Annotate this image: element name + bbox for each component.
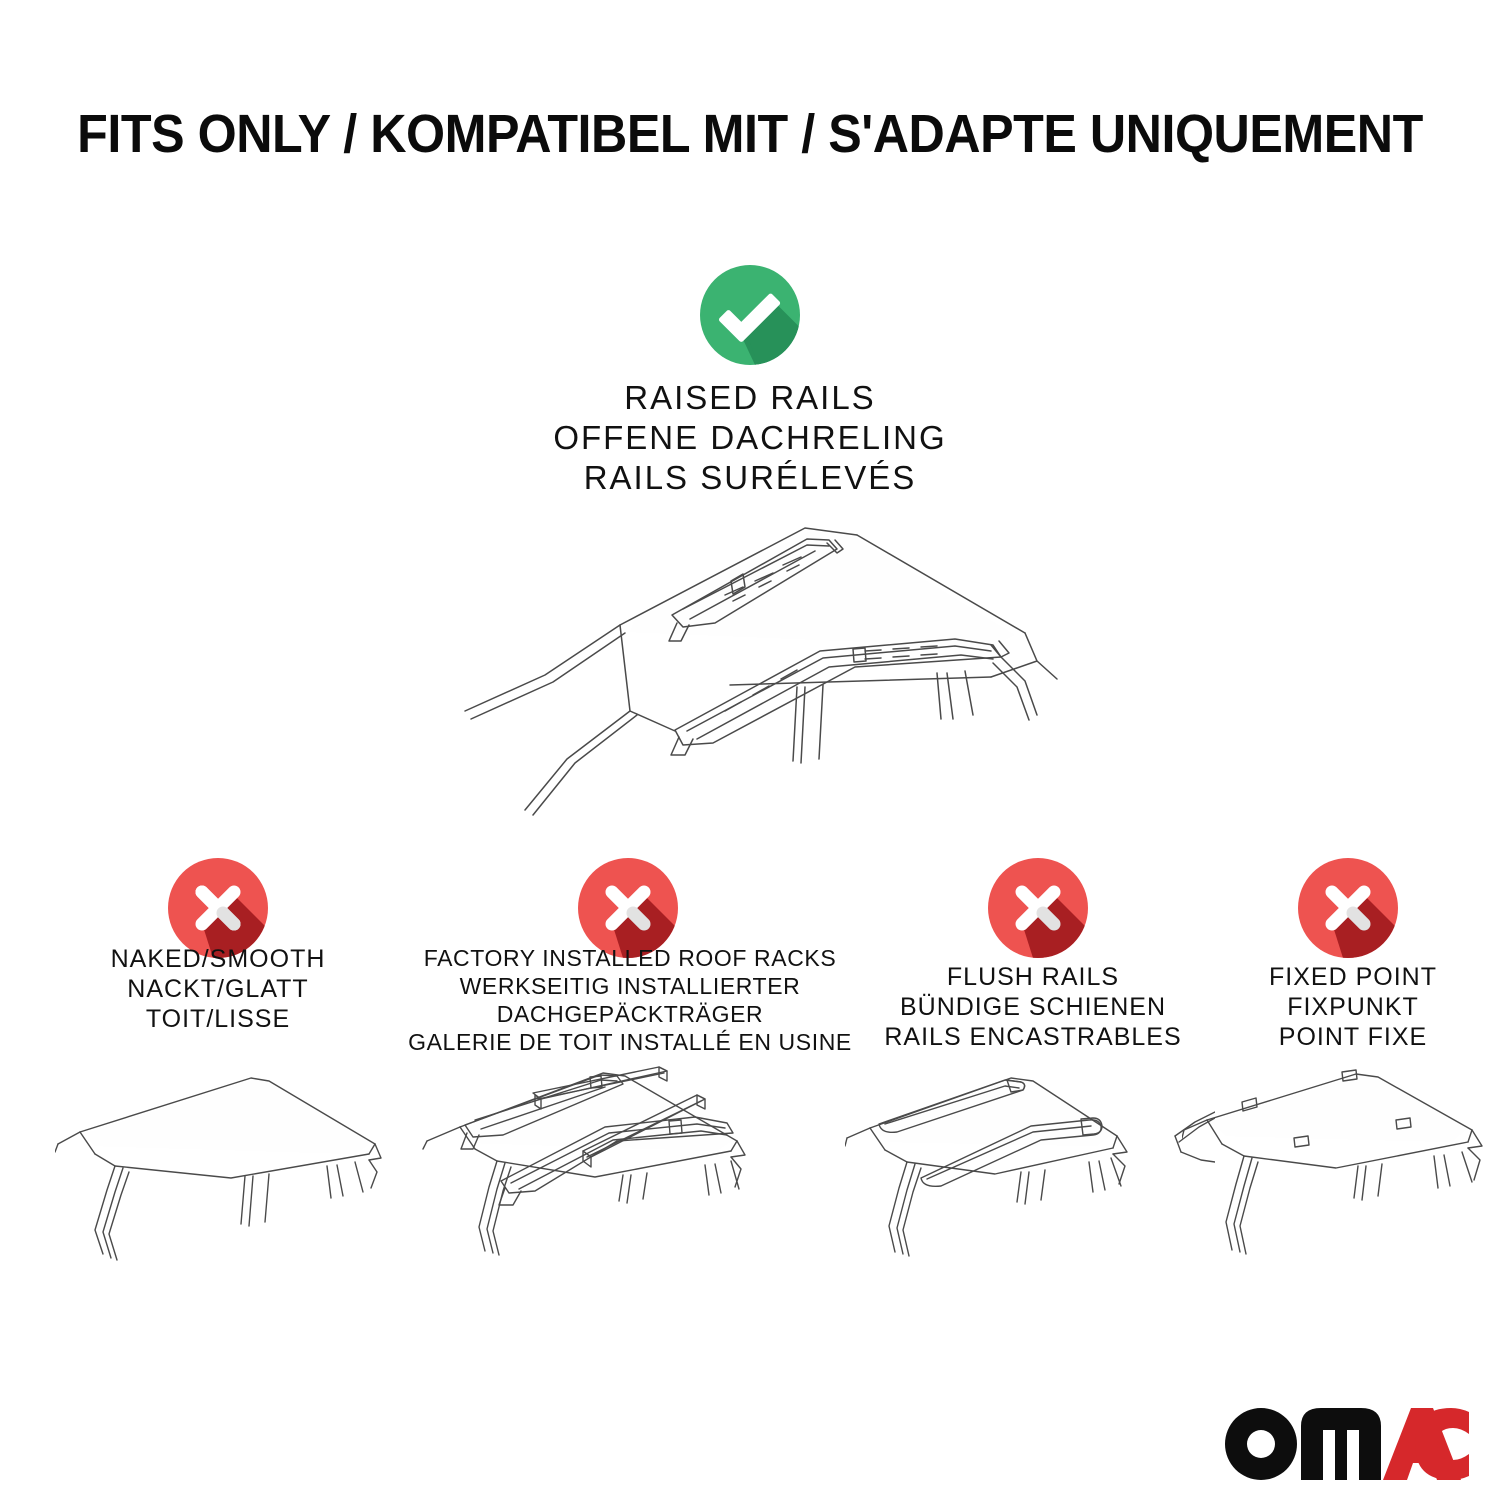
incompatible-label-line-2: BÜNDIGE SCHIENEN [868,992,1198,1022]
incompatible-label-line-3: TOIT/LISSE [18,1004,418,1034]
car-roof-factory-roof-racks-illustration [405,1055,785,1295]
check-circle-icon [700,265,800,365]
compatible-label-line-3: RAILS SURÉLEVÉS [450,458,1050,498]
car-roof-flush-rails-illustration [845,1062,1215,1292]
x-circle-icon [988,858,1088,958]
car-roof-fixed-point-illustration [1182,1062,1500,1292]
compatible-label: RAISED RAILS OFFENE DACHRELING RAILS SUR… [450,378,1050,498]
incompatible-label-naked-smooth: NAKED/SMOOTH NACKT/GLATT TOIT/LISSE [18,944,418,1034]
incompatible-label-line-2: NACKT/GLATT [18,974,418,1004]
incompatible-label-line-2: WERKSEITIG INSTALLIERTER [400,972,860,1000]
incompatible-label-flush-rails: FLUSH RAILS BÜNDIGE SCHIENEN RAILS ENCAS… [868,962,1198,1052]
incompatible-label-line-3: RAILS ENCASTRABLES [868,1022,1198,1052]
page-title: FITS ONLY / KOMPATIBEL MIT / S'ADAPTE UN… [53,104,1448,164]
incompatible-label-line-1: FIXED POINT [1218,962,1488,992]
car-roof-naked-smooth-illustration [55,1062,415,1292]
incompatible-label-fixed-point: FIXED POINT FIXPUNKT POINT FIXE [1218,962,1488,1052]
x-circle-icon [1298,858,1398,958]
compatible-label-line-1: RAISED RAILS [450,378,1050,418]
incompatible-label-line-1: FLUSH RAILS [868,962,1198,992]
x-circle-icon [168,858,268,958]
compatible-label-line-2: OFFENE DACHRELING [450,418,1050,458]
incompatible-label-line-4: GALERIE DE TOIT INSTALLÉ EN USINE [400,1028,860,1056]
incompatible-label-factory-roof-racks: FACTORY INSTALLED ROOF RACKS WERKSEITIG … [400,944,860,1056]
incompatible-label-line-1: FACTORY INSTALLED ROOF RACKS [400,944,860,972]
car-roof-raised-rails-illustration [425,515,1085,825]
incompatible-label-line-3: POINT FIXE [1218,1022,1488,1052]
incompatible-label-line-2: FIXPUNKT [1218,992,1488,1022]
x-circle-icon [578,858,678,958]
fitment-compatibility-infographic: FITS ONLY / KOMPATIBEL MIT / S'ADAPTE UN… [0,0,1500,1500]
incompatible-label-line-1: NAKED/SMOOTH [18,944,418,974]
brand-logo-omac [1225,1408,1475,1480]
incompatible-label-line-3: DACHGEPÄCKTRÄGER [400,1000,860,1028]
